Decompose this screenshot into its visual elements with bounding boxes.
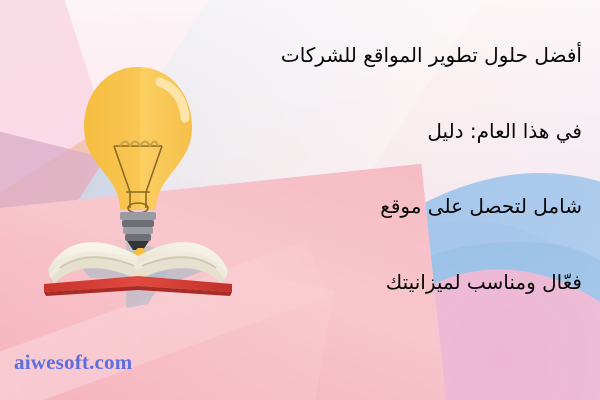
- headline-line-4: فعّال ومناسب لميزانيتك: [202, 271, 582, 295]
- bulb-glass: [84, 67, 192, 210]
- watermark-site-name: aiwesoft.com: [14, 350, 132, 375]
- headline-line-3: شامل لتحصل على موقع: [202, 195, 582, 219]
- headline-line-2: في هذا العام: دليل: [202, 120, 582, 144]
- headline-line-1: أفضل حلول تطوير المواقع للشركات: [202, 44, 582, 68]
- bulb-socket: [120, 212, 156, 250]
- headline-text: أفضل حلول تطوير المواقع للشركات في هذا ا…: [202, 44, 582, 294]
- promo-banner: أفضل حلول تطوير المواقع للشركات في هذا ا…: [0, 0, 600, 400]
